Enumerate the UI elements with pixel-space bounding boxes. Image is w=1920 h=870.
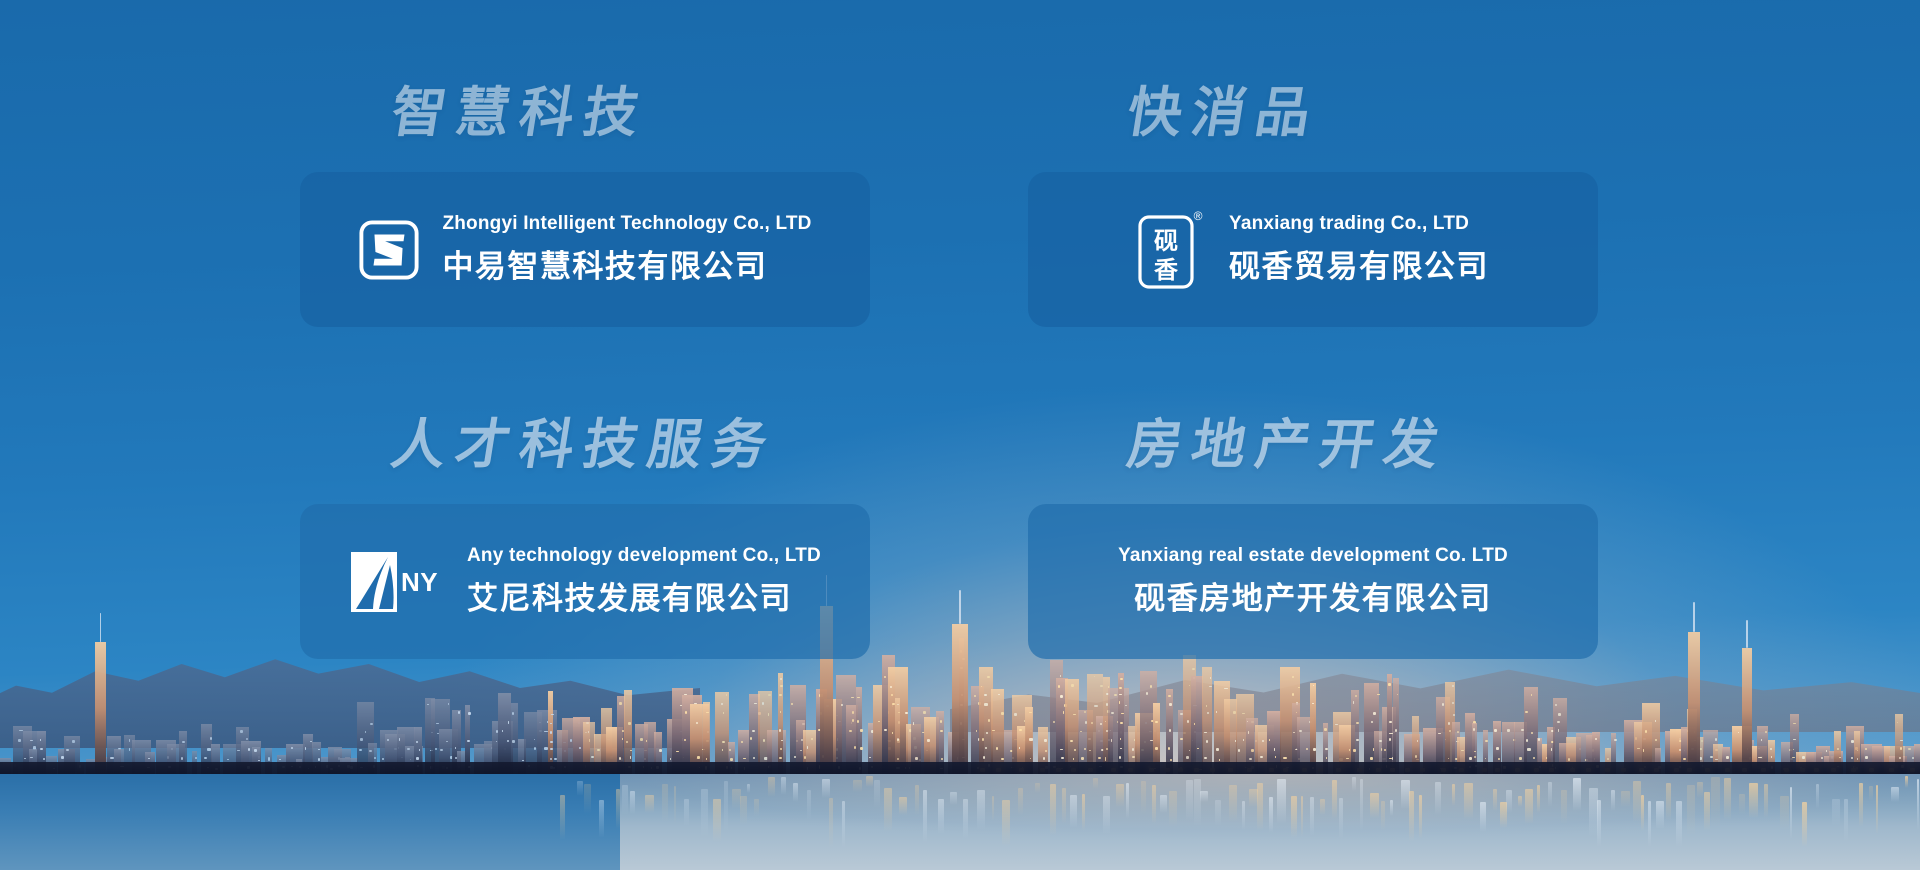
company-text: Yanxiang real estate development Co. LTD… [1118, 545, 1508, 618]
hero-banner: 智慧科技 Zhongyi Intelligent Technology Co.,… [0, 0, 1920, 870]
company-card-yanxiang-trading[interactable]: 砚 香 ® Yanxiang trading Co., LTD 砚香贸易有限公司 [1028, 172, 1598, 327]
company-card-any[interactable]: NY Any technology development Co., LTD 艾… [300, 504, 870, 659]
company-name-en: Any technology development Co., LTD [467, 545, 821, 567]
segment-heading: 人才科技服务 [388, 418, 965, 472]
segment-fmcg: 快消品 砚 香 ® Yanxiang trading Co., LTD 砚香贸易… [960, 86, 1620, 418]
seal-char-top: 砚 [1154, 229, 1178, 255]
company-name-cn: 中易智慧科技有限公司 [442, 241, 811, 286]
segment-real-estate: 房地产开发 Yanxiang real estate development C… [960, 418, 1620, 750]
segment-heading: 快消品 [1124, 86, 1625, 140]
company-name-cn: 砚香贸易有限公司 [1229, 241, 1489, 286]
seal-char-bottom: 香 [1154, 257, 1179, 284]
company-name-en: Zhongyi Intelligent Technology Co., LTD [442, 213, 811, 235]
company-text: Yanxiang trading Co., LTD 砚香贸易有限公司 [1229, 213, 1489, 286]
company-name-en: Yanxiang real estate development Co. LTD [1118, 545, 1508, 567]
segment-talent-services: 人才科技服务 NY Any technology development Co.… [300, 418, 960, 750]
company-text: Zhongyi Intelligent Technology Co., LTD … [442, 213, 811, 286]
yanxiang-seal-icon: 砚 香 ® [1137, 207, 1207, 293]
registered-mark-icon: ® [1194, 209, 1203, 223]
any-logo-text: NY [401, 567, 438, 597]
company-card-yanxiang-real-estate[interactable]: Yanxiang real estate development Co. LTD… [1028, 504, 1598, 659]
company-name-cn: 艾尼科技发展有限公司 [467, 573, 821, 618]
segment-smart-technology: 智慧科技 Zhongyi Intelligent Technology Co.,… [300, 86, 960, 418]
any-mountain-icon: NY [349, 549, 445, 615]
company-name-en: Yanxiang trading Co., LTD [1229, 213, 1489, 235]
segment-heading: 智慧科技 [388, 86, 965, 140]
company-card-zhongyi[interactable]: Zhongyi Intelligent Technology Co., LTD … [300, 172, 870, 327]
segment-grid: 智慧科技 Zhongyi Intelligent Technology Co.,… [0, 0, 1920, 870]
company-text: Any technology development Co., LTD 艾尼科技… [467, 545, 821, 618]
segment-heading: 房地产开发 [1124, 418, 1625, 472]
company-name-cn: 砚香房地产开发有限公司 [1134, 573, 1492, 618]
zhongyi-z-badge-icon [358, 219, 420, 281]
